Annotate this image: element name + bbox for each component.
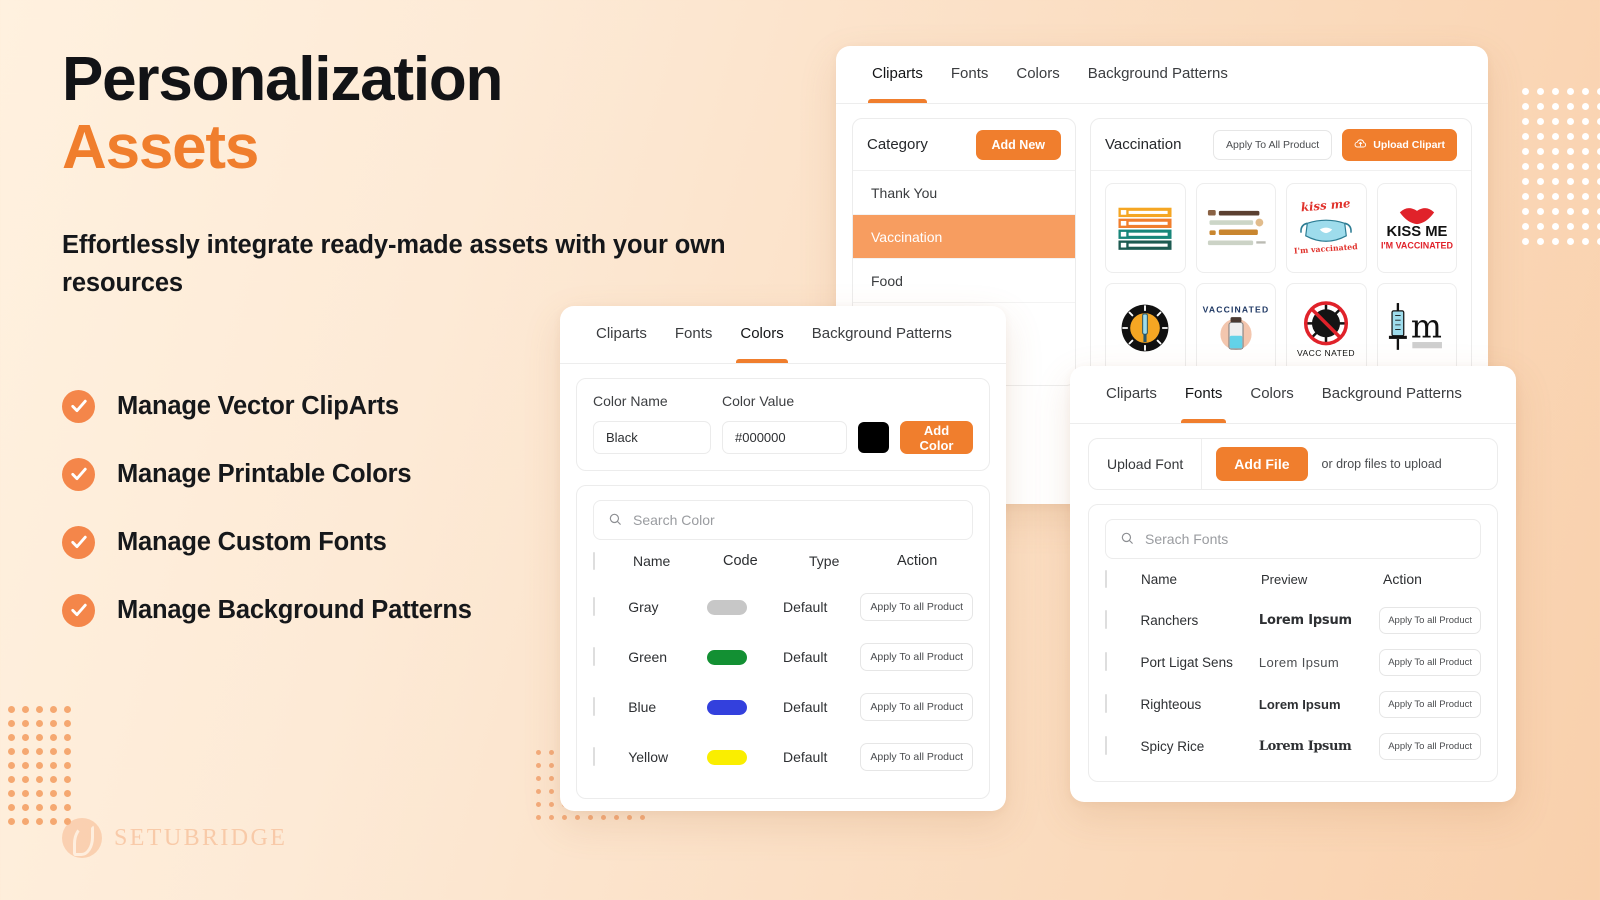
clipart-item-no-virus-vaccinated[interactable]: VACC NATED — [1286, 283, 1367, 373]
row-checkbox[interactable] — [1105, 736, 1107, 755]
apply-to-all-product-button[interactable]: Apply To all Product — [860, 643, 973, 671]
tab-cliparts[interactable]: Cliparts — [582, 306, 661, 363]
search-color-input[interactable]: Search Color — [593, 500, 973, 540]
colors-panel: Cliparts Fonts Colors Background Pattern… — [560, 306, 1006, 811]
column-name: Name — [1141, 572, 1261, 587]
clipart-grid: kiss me I'm vaccinated KISS ME I'M VACCI… — [1091, 171, 1471, 385]
svg-text:VACC NATED: VACC NATED — [1297, 348, 1355, 358]
clipart-item-vaccinated-bottle[interactable]: VACCINATED — [1196, 283, 1277, 373]
check-circle-icon — [62, 390, 95, 423]
row-checkbox[interactable] — [593, 597, 595, 616]
tab-colors[interactable]: Colors — [1002, 46, 1073, 103]
clipart-item-kiss-me-im-vaccinated-lips[interactable]: KISS ME I'M VACCINATED — [1377, 183, 1458, 273]
clipart-item-educated-caffeinated-graduated-vaccinated-script[interactable] — [1196, 183, 1277, 273]
font-row-preview: Lorem Ipsum — [1259, 697, 1379, 712]
color-name-input[interactable] — [593, 421, 711, 454]
watermark-logo: SETUBRIDGE — [62, 818, 287, 858]
color-row: Green Default Apply To all Product — [593, 632, 973, 682]
color-row-swatch — [707, 700, 747, 715]
color-row-type: Default — [783, 699, 860, 715]
svg-text:m: m — [1411, 307, 1442, 345]
page-title: Personalization Assets — [62, 46, 842, 182]
column-type: Type — [809, 553, 897, 569]
clipart-item-vaccine-badge-circle[interactable] — [1105, 283, 1186, 373]
search-fonts-input[interactable]: Serach Fonts — [1105, 519, 1481, 559]
feature-item: Manage Vector ClipArts — [62, 372, 472, 440]
feature-item: Manage Background Patterns — [62, 576, 472, 644]
check-circle-icon — [62, 458, 95, 491]
color-value-input[interactable] — [722, 421, 847, 454]
fonts-panel: Cliparts Fonts Colors Background Pattern… — [1070, 366, 1516, 802]
select-all-fonts-checkbox[interactable] — [1105, 570, 1107, 588]
color-row: Blue Default Apply To all Product — [593, 682, 973, 732]
apply-to-all-product-button[interactable]: Apply To all Product — [1379, 649, 1481, 676]
upload-clipart-button[interactable]: Upload Clipart — [1342, 129, 1457, 161]
tab-background-patterns[interactable]: Background Patterns — [1074, 46, 1242, 103]
row-checkbox[interactable] — [1105, 694, 1107, 713]
check-circle-icon — [62, 526, 95, 559]
tab-background-patterns[interactable]: Background Patterns — [798, 306, 966, 363]
color-row-swatch — [707, 650, 747, 665]
svg-text:KISS ME: KISS ME — [1386, 224, 1447, 240]
select-all-colors-checkbox[interactable] — [593, 552, 595, 570]
apply-to-all-product-button[interactable]: Apply To all Product — [1379, 691, 1481, 718]
check-circle-icon — [62, 594, 95, 627]
add-file-button[interactable]: Add File — [1216, 447, 1307, 481]
add-new-category-button[interactable]: Add New — [976, 130, 1061, 160]
color-row-swatch — [707, 750, 747, 765]
colors-table-header: Name Code Type Action — [593, 540, 973, 582]
category-item-food[interactable]: Food — [853, 259, 1075, 303]
font-row-name: Spicy Rice — [1141, 739, 1259, 754]
color-row: Gray Default Apply To all Product — [593, 582, 973, 632]
color-row-name: Yellow — [628, 749, 707, 765]
tab-cliparts[interactable]: Cliparts — [858, 46, 937, 103]
upload-clipart-label: Upload Clipart — [1373, 139, 1445, 151]
apply-to-all-product-button[interactable]: Apply To all Product — [860, 743, 973, 771]
feature-label: Manage Background Patterns — [117, 596, 472, 625]
colors-table-box: Search Color Name Code Type Action Gray … — [576, 485, 990, 799]
upload-font-label: Upload Font — [1089, 439, 1202, 489]
tab-colors[interactable]: Colors — [1236, 366, 1307, 423]
page-title-line1: Personalization — [62, 45, 502, 114]
selected-category-title: Vaccination — [1105, 136, 1203, 153]
colors-tabbar: Cliparts Fonts Colors Background Pattern… — [560, 306, 1006, 364]
font-row-name: Righteous — [1141, 697, 1259, 712]
color-row-type: Default — [783, 649, 860, 665]
tab-colors[interactable]: Colors — [726, 306, 797, 363]
svg-text:I'M VACCINATED: I'M VACCINATED — [1381, 240, 1453, 250]
font-row: Port Ligat Sens Lorem Ipsum Apply To all… — [1105, 641, 1481, 683]
color-swatch-preview[interactable] — [858, 422, 889, 453]
apply-to-all-product-button[interactable]: Apply To all Product — [1379, 733, 1481, 760]
hero-section: Personalization Assets Effortlessly inte… — [62, 46, 842, 302]
color-row-type: Default — [783, 749, 860, 765]
tab-fonts[interactable]: Fonts — [937, 46, 1003, 103]
clipart-item-educated-caffeinated-graduated-vaccinated-stacked[interactable] — [1105, 183, 1186, 273]
cloud-upload-icon — [1354, 137, 1367, 153]
fonts-table-header: Name Preview Action — [1105, 559, 1481, 599]
row-checkbox[interactable] — [1105, 610, 1107, 629]
tab-cliparts[interactable]: Cliparts — [1092, 366, 1171, 423]
font-row-preview: Lorem Ipsum — [1259, 655, 1379, 670]
search-color-placeholder: Search Color — [633, 512, 715, 528]
color-name-label: Color Name — [593, 393, 722, 409]
search-icon — [608, 512, 622, 529]
feature-list: Manage Vector ClipArts Manage Printable … — [62, 372, 472, 644]
column-action: Action — [1383, 571, 1481, 587]
fonts-table-box: Serach Fonts Name Preview Action Rancher… — [1088, 504, 1498, 782]
clipart-grid-header: Vaccination Apply To All Product Upload … — [1091, 119, 1471, 171]
svg-text:kiss me: kiss me — [1301, 196, 1352, 214]
cliparts-tabbar: Cliparts Fonts Colors Background Pattern… — [836, 46, 1488, 104]
font-row-name: Ranchers — [1141, 613, 1259, 628]
apply-to-all-product-button[interactable]: Apply To all Product — [860, 593, 973, 621]
row-checkbox[interactable] — [593, 647, 595, 666]
color-row-swatch — [707, 600, 747, 615]
watermark-label: SETUBRIDGE — [114, 825, 287, 852]
column-name: Name — [633, 553, 723, 569]
category-item-vaccination[interactable]: Vaccination — [853, 215, 1075, 259]
font-row-preview: Lorem Ipsum — [1259, 739, 1379, 754]
clipart-item-kiss-me-im-vaccinated-mask[interactable]: kiss me I'm vaccinated — [1286, 183, 1367, 273]
tab-background-patterns[interactable]: Background Patterns — [1308, 366, 1476, 423]
drop-files-hint: or drop files to upload — [1322, 457, 1442, 471]
feature-item: Manage Printable Colors — [62, 440, 472, 508]
color-row-name: Gray — [628, 599, 707, 615]
clipart-grid-box: Vaccination Apply To All Product Upload … — [1090, 118, 1472, 386]
setubridge-mark-icon — [62, 818, 102, 858]
apply-to-all-product-button[interactable]: Apply To all Product — [860, 693, 973, 721]
apply-to-all-product-button[interactable]: Apply To All Product — [1213, 130, 1332, 160]
tab-fonts[interactable]: Fonts — [1171, 366, 1237, 423]
font-row-preview: Lorem Ipsum — [1259, 613, 1379, 628]
column-code: Code — [723, 553, 809, 569]
column-action: Action — [897, 553, 973, 569]
search-icon — [1120, 531, 1134, 548]
font-row: Righteous Lorem Ipsum Apply To all Produ… — [1105, 683, 1481, 725]
color-row-name: Blue — [628, 699, 707, 715]
search-fonts-placeholder: Serach Fonts — [1145, 531, 1228, 547]
color-value-label: Color Value — [722, 393, 794, 409]
tab-fonts[interactable]: Fonts — [661, 306, 727, 363]
column-preview: Preview — [1261, 572, 1383, 587]
category-title: Category — [867, 136, 928, 153]
apply-to-all-product-button[interactable]: Apply To all Product — [1379, 607, 1481, 634]
clipart-item-syringe-m-monogram[interactable]: m — [1377, 283, 1458, 373]
hero-subtitle: Effortlessly integrate ready-made assets… — [62, 226, 762, 302]
color-row-type: Default — [783, 599, 860, 615]
font-row: Spicy Rice Lorem Ipsum Apply To all Prod… — [1105, 725, 1481, 767]
row-checkbox[interactable] — [593, 747, 595, 766]
row-checkbox[interactable] — [1105, 652, 1107, 671]
color-row: Yellow Default Apply To all Product — [593, 732, 973, 782]
feature-label: Manage Printable Colors — [117, 460, 411, 489]
font-row: Ranchers Lorem Ipsum Apply To all Produc… — [1105, 599, 1481, 641]
svg-text:I'm vaccinated: I'm vaccinated — [1294, 242, 1359, 255]
feature-item: Manage Custom Fonts — [62, 508, 472, 576]
feature-label: Manage Custom Fonts — [117, 528, 387, 557]
row-checkbox[interactable] — [593, 697, 595, 716]
font-row-name: Port Ligat Sens — [1141, 655, 1259, 670]
add-color-button[interactable]: Add Color — [900, 421, 973, 454]
color-row-name: Green — [628, 649, 707, 665]
category-item-thank-you[interactable]: Thank You — [853, 171, 1075, 215]
add-color-form: Color Name Color Value Add Color — [576, 378, 990, 471]
upload-font-box: Upload Font Add File or drop files to up… — [1088, 438, 1498, 490]
svg-text:VACCINATED: VACCINATED — [1202, 304, 1269, 314]
fonts-tabbar: Cliparts Fonts Colors Background Pattern… — [1070, 366, 1516, 424]
feature-label: Manage Vector ClipArts — [117, 392, 399, 421]
page-title-line2: Assets — [62, 114, 842, 182]
category-header: Category Add New — [853, 119, 1075, 171]
